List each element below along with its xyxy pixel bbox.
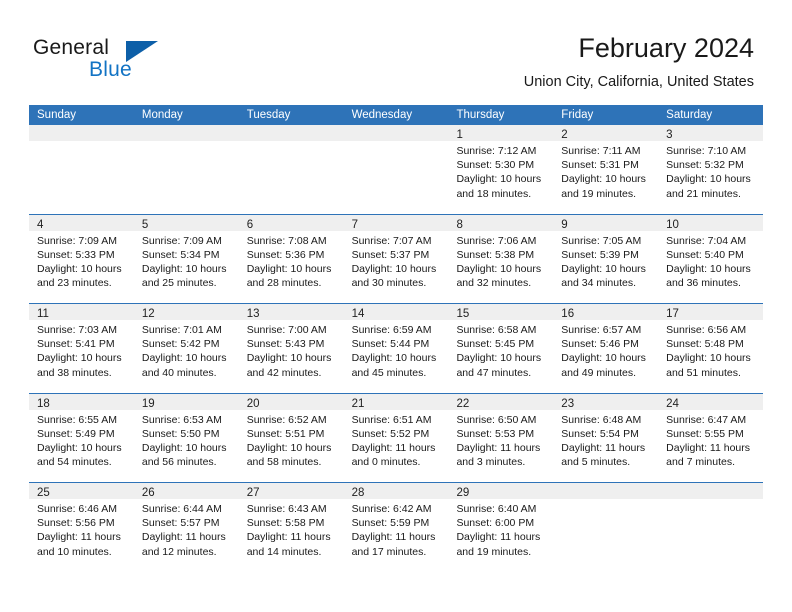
sunset-text: Sunset: 6:00 PM bbox=[456, 516, 547, 530]
day-details: Sunrise: 7:10 AMSunset: 5:32 PMDaylight:… bbox=[658, 141, 763, 201]
sunrise-text: Sunrise: 7:04 AM bbox=[666, 234, 757, 248]
day-number-band: 25 bbox=[29, 483, 134, 499]
sunset-text: Sunset: 5:38 PM bbox=[456, 248, 547, 262]
day-number: 22 bbox=[456, 398, 469, 410]
sunset-text: Sunset: 5:58 PM bbox=[247, 516, 338, 530]
day-number-band: 6 bbox=[239, 215, 344, 231]
day-number: 18 bbox=[37, 398, 50, 410]
day-number: 24 bbox=[666, 398, 679, 410]
day-details: Sunrise: 6:56 AMSunset: 5:48 PMDaylight:… bbox=[658, 320, 763, 380]
day-cell-3[interactable]: 3Sunrise: 7:10 AMSunset: 5:32 PMDaylight… bbox=[658, 125, 763, 214]
day-number-band bbox=[29, 125, 134, 141]
weekday-header-friday: Friday bbox=[553, 105, 658, 125]
daylight-text-line1: Daylight: 11 hours bbox=[37, 530, 128, 544]
sunset-text: Sunset: 5:31 PM bbox=[561, 158, 652, 172]
day-number-band: 12 bbox=[134, 304, 239, 320]
location-subtitle: Union City, California, United States bbox=[524, 73, 754, 91]
sunrise-text: Sunrise: 6:59 AM bbox=[352, 323, 443, 337]
day-number: 23 bbox=[561, 398, 574, 410]
daylight-text-line2: and 18 minutes. bbox=[456, 187, 547, 201]
day-cell-empty bbox=[553, 483, 658, 573]
day-number-band: 2 bbox=[553, 125, 658, 141]
day-number-band: 3 bbox=[658, 125, 763, 141]
title-block: February 2024 Union City, California, Un… bbox=[524, 32, 754, 91]
sunset-text: Sunset: 5:40 PM bbox=[666, 248, 757, 262]
calendar-grid: SundayMondayTuesdayWednesdayThursdayFrid… bbox=[29, 105, 763, 573]
sunset-text: Sunset: 5:48 PM bbox=[666, 337, 757, 351]
day-details: Sunrise: 6:48 AMSunset: 5:54 PMDaylight:… bbox=[553, 410, 658, 470]
day-details: Sunrise: 7:03 AMSunset: 5:41 PMDaylight:… bbox=[29, 320, 134, 380]
calendar-week-row: 18Sunrise: 6:55 AMSunset: 5:49 PMDayligh… bbox=[29, 394, 763, 484]
day-number: 2 bbox=[561, 129, 567, 141]
weekday-header-row: SundayMondayTuesdayWednesdayThursdayFrid… bbox=[29, 105, 763, 125]
day-number-band: 27 bbox=[239, 483, 344, 499]
day-cell-2[interactable]: 2Sunrise: 7:11 AMSunset: 5:31 PMDaylight… bbox=[553, 125, 658, 214]
sunset-text: Sunset: 5:42 PM bbox=[142, 337, 233, 351]
sunset-text: Sunset: 5:32 PM bbox=[666, 158, 757, 172]
day-details: Sunrise: 7:11 AMSunset: 5:31 PMDaylight:… bbox=[553, 141, 658, 201]
daylight-text-line2: and 42 minutes. bbox=[247, 366, 338, 380]
day-number: 28 bbox=[352, 487, 365, 499]
weekday-header-sunday: Sunday bbox=[29, 105, 134, 125]
calendar-body: 1Sunrise: 7:12 AMSunset: 5:30 PMDaylight… bbox=[29, 125, 763, 573]
sunset-text: Sunset: 5:49 PM bbox=[37, 427, 128, 441]
sunrise-text: Sunrise: 6:53 AM bbox=[142, 413, 233, 427]
daylight-text-line2: and 38 minutes. bbox=[37, 366, 128, 380]
day-cell-26[interactable]: 26Sunrise: 6:44 AMSunset: 5:57 PMDayligh… bbox=[134, 483, 239, 573]
day-cell-22[interactable]: 22Sunrise: 6:50 AMSunset: 5:53 PMDayligh… bbox=[448, 394, 553, 483]
sunrise-text: Sunrise: 6:56 AM bbox=[666, 323, 757, 337]
day-number-band: 20 bbox=[239, 394, 344, 410]
sunset-text: Sunset: 5:56 PM bbox=[37, 516, 128, 530]
day-details: Sunrise: 6:59 AMSunset: 5:44 PMDaylight:… bbox=[344, 320, 449, 380]
daylight-text-line1: Daylight: 10 hours bbox=[142, 441, 233, 455]
sunrise-text: Sunrise: 7:10 AM bbox=[666, 144, 757, 158]
weekday-header-wednesday: Wednesday bbox=[344, 105, 449, 125]
sunset-text: Sunset: 5:44 PM bbox=[352, 337, 443, 351]
sunset-text: Sunset: 5:51 PM bbox=[247, 427, 338, 441]
day-cell-19[interactable]: 19Sunrise: 6:53 AMSunset: 5:50 PMDayligh… bbox=[134, 394, 239, 483]
sunset-text: Sunset: 5:50 PM bbox=[142, 427, 233, 441]
sunrise-text: Sunrise: 7:08 AM bbox=[247, 234, 338, 248]
sunset-text: Sunset: 5:55 PM bbox=[666, 427, 757, 441]
daylight-text-line2: and 30 minutes. bbox=[352, 276, 443, 290]
sunrise-text: Sunrise: 6:42 AM bbox=[352, 502, 443, 516]
daylight-text-line1: Daylight: 11 hours bbox=[561, 441, 652, 455]
sunset-text: Sunset: 5:39 PM bbox=[561, 248, 652, 262]
day-number-band: 19 bbox=[134, 394, 239, 410]
sunrise-text: Sunrise: 6:47 AM bbox=[666, 413, 757, 427]
sunrise-text: Sunrise: 6:50 AM bbox=[456, 413, 547, 427]
sunrise-text: Sunrise: 6:51 AM bbox=[352, 413, 443, 427]
day-number: 5 bbox=[142, 219, 148, 231]
sunrise-text: Sunrise: 6:40 AM bbox=[456, 502, 547, 516]
day-cell-12[interactable]: 12Sunrise: 7:01 AMSunset: 5:42 PMDayligh… bbox=[134, 304, 239, 393]
daylight-text-line1: Daylight: 10 hours bbox=[142, 351, 233, 365]
day-number: 14 bbox=[352, 308, 365, 320]
sunrise-text: Sunrise: 7:01 AM bbox=[142, 323, 233, 337]
day-number: 27 bbox=[247, 487, 260, 499]
sunrise-text: Sunrise: 6:48 AM bbox=[561, 413, 652, 427]
daylight-text-line2: and 51 minutes. bbox=[666, 366, 757, 380]
sunset-text: Sunset: 5:33 PM bbox=[37, 248, 128, 262]
daylight-text-line1: Daylight: 11 hours bbox=[142, 530, 233, 544]
day-cell-8[interactable]: 8Sunrise: 7:06 AMSunset: 5:38 PMDaylight… bbox=[448, 215, 553, 304]
sunrise-text: Sunrise: 6:57 AM bbox=[561, 323, 652, 337]
day-number-band: 17 bbox=[658, 304, 763, 320]
day-number-band: 1 bbox=[448, 125, 553, 141]
sunrise-text: Sunrise: 7:05 AM bbox=[561, 234, 652, 248]
day-number-band: 5 bbox=[134, 215, 239, 231]
day-number-band: 29 bbox=[448, 483, 553, 499]
daylight-text-line1: Daylight: 10 hours bbox=[37, 351, 128, 365]
sunset-text: Sunset: 5:36 PM bbox=[247, 248, 338, 262]
day-cell-25[interactable]: 25Sunrise: 6:46 AMSunset: 5:56 PMDayligh… bbox=[29, 483, 134, 573]
daylight-text-line1: Daylight: 10 hours bbox=[352, 262, 443, 276]
day-cell-29[interactable]: 29Sunrise: 6:40 AMSunset: 6:00 PMDayligh… bbox=[448, 483, 553, 573]
day-details: Sunrise: 6:43 AMSunset: 5:58 PMDaylight:… bbox=[239, 499, 344, 559]
day-cell-24[interactable]: 24Sunrise: 6:47 AMSunset: 5:55 PMDayligh… bbox=[658, 394, 763, 483]
daylight-text-line1: Daylight: 10 hours bbox=[561, 351, 652, 365]
day-number: 4 bbox=[37, 219, 43, 231]
daylight-text-line2: and 56 minutes. bbox=[142, 455, 233, 469]
daylight-text-line1: Daylight: 10 hours bbox=[561, 262, 652, 276]
daylight-text-line2: and 12 minutes. bbox=[142, 545, 233, 559]
day-number-band: 8 bbox=[448, 215, 553, 231]
day-details: Sunrise: 6:47 AMSunset: 5:55 PMDaylight:… bbox=[658, 410, 763, 470]
day-number: 15 bbox=[456, 308, 469, 320]
sunset-text: Sunset: 5:46 PM bbox=[561, 337, 652, 351]
daylight-text-line1: Daylight: 11 hours bbox=[666, 441, 757, 455]
day-details: Sunrise: 7:08 AMSunset: 5:36 PMDaylight:… bbox=[239, 231, 344, 291]
daylight-text-line1: Daylight: 10 hours bbox=[561, 172, 652, 186]
day-cell-empty bbox=[344, 125, 449, 214]
daylight-text-line2: and 34 minutes. bbox=[561, 276, 652, 290]
sunrise-text: Sunrise: 6:52 AM bbox=[247, 413, 338, 427]
sunrise-text: Sunrise: 6:43 AM bbox=[247, 502, 338, 516]
day-number-band bbox=[553, 483, 658, 499]
sunset-text: Sunset: 5:54 PM bbox=[561, 427, 652, 441]
day-details: Sunrise: 7:01 AMSunset: 5:42 PMDaylight:… bbox=[134, 320, 239, 380]
day-details: Sunrise: 6:55 AMSunset: 5:49 PMDaylight:… bbox=[29, 410, 134, 470]
daylight-text-line2: and 36 minutes. bbox=[666, 276, 757, 290]
weekday-header-tuesday: Tuesday bbox=[239, 105, 344, 125]
daylight-text-line1: Daylight: 10 hours bbox=[37, 262, 128, 276]
day-cell-1[interactable]: 1Sunrise: 7:12 AMSunset: 5:30 PMDaylight… bbox=[448, 125, 553, 214]
sunrise-text: Sunrise: 7:06 AM bbox=[456, 234, 547, 248]
daylight-text-line2: and 32 minutes. bbox=[456, 276, 547, 290]
day-cell-28[interactable]: 28Sunrise: 6:42 AMSunset: 5:59 PMDayligh… bbox=[344, 483, 449, 573]
day-details: Sunrise: 7:09 AMSunset: 5:34 PMDaylight:… bbox=[134, 231, 239, 291]
sunrise-text: Sunrise: 6:55 AM bbox=[37, 413, 128, 427]
day-details: Sunrise: 7:07 AMSunset: 5:37 PMDaylight:… bbox=[344, 231, 449, 291]
day-number-band bbox=[134, 125, 239, 141]
day-details: Sunrise: 7:04 AMSunset: 5:40 PMDaylight:… bbox=[658, 231, 763, 291]
calendar-week-row: 25Sunrise: 6:46 AMSunset: 5:56 PMDayligh… bbox=[29, 483, 763, 573]
daylight-text-line2: and 49 minutes. bbox=[561, 366, 652, 380]
daylight-text-line1: Daylight: 10 hours bbox=[247, 441, 338, 455]
sunrise-text: Sunrise: 6:58 AM bbox=[456, 323, 547, 337]
day-details: Sunrise: 7:05 AMSunset: 5:39 PMDaylight:… bbox=[553, 231, 658, 291]
daylight-text-line1: Daylight: 10 hours bbox=[456, 351, 547, 365]
calendar-week-row: 1Sunrise: 7:12 AMSunset: 5:30 PMDaylight… bbox=[29, 125, 763, 215]
day-cell-empty bbox=[658, 483, 763, 573]
day-cell-18[interactable]: 18Sunrise: 6:55 AMSunset: 5:49 PMDayligh… bbox=[29, 394, 134, 483]
day-number: 26 bbox=[142, 487, 155, 499]
daylight-text-line2: and 3 minutes. bbox=[456, 455, 547, 469]
day-cell-9[interactable]: 9Sunrise: 7:05 AMSunset: 5:39 PMDaylight… bbox=[553, 215, 658, 304]
day-number-band: 14 bbox=[344, 304, 449, 320]
daylight-text-line2: and 40 minutes. bbox=[142, 366, 233, 380]
day-details: Sunrise: 6:50 AMSunset: 5:53 PMDaylight:… bbox=[448, 410, 553, 470]
sunrise-text: Sunrise: 7:11 AM bbox=[561, 144, 652, 158]
day-cell-16[interactable]: 16Sunrise: 6:57 AMSunset: 5:46 PMDayligh… bbox=[553, 304, 658, 393]
day-number: 12 bbox=[142, 308, 155, 320]
day-number-band bbox=[658, 483, 763, 499]
day-details: Sunrise: 6:46 AMSunset: 5:56 PMDaylight:… bbox=[29, 499, 134, 559]
daylight-text-line2: and 21 minutes. bbox=[666, 187, 757, 201]
daylight-text-line1: Daylight: 10 hours bbox=[666, 172, 757, 186]
day-number: 21 bbox=[352, 398, 365, 410]
day-number-band: 26 bbox=[134, 483, 239, 499]
day-details: Sunrise: 6:40 AMSunset: 6:00 PMDaylight:… bbox=[448, 499, 553, 559]
brand-name-general: General bbox=[33, 36, 109, 60]
daylight-text-line1: Daylight: 10 hours bbox=[456, 172, 547, 186]
day-details: Sunrise: 6:44 AMSunset: 5:57 PMDaylight:… bbox=[134, 499, 239, 559]
day-number-band: 7 bbox=[344, 215, 449, 231]
day-number: 20 bbox=[247, 398, 260, 410]
sunset-text: Sunset: 5:41 PM bbox=[37, 337, 128, 351]
day-cell-15[interactable]: 15Sunrise: 6:58 AMSunset: 5:45 PMDayligh… bbox=[448, 304, 553, 393]
day-cell-empty bbox=[29, 125, 134, 214]
day-number-band: 10 bbox=[658, 215, 763, 231]
day-cell-11[interactable]: 11Sunrise: 7:03 AMSunset: 5:41 PMDayligh… bbox=[29, 304, 134, 393]
day-cell-20[interactable]: 20Sunrise: 6:52 AMSunset: 5:51 PMDayligh… bbox=[239, 394, 344, 483]
sunset-text: Sunset: 5:45 PM bbox=[456, 337, 547, 351]
day-details: Sunrise: 7:06 AMSunset: 5:38 PMDaylight:… bbox=[448, 231, 553, 291]
day-details: Sunrise: 6:42 AMSunset: 5:59 PMDaylight:… bbox=[344, 499, 449, 559]
day-number: 29 bbox=[456, 487, 469, 499]
sunset-text: Sunset: 5:53 PM bbox=[456, 427, 547, 441]
day-number-band: 4 bbox=[29, 215, 134, 231]
day-cell-13[interactable]: 13Sunrise: 7:00 AMSunset: 5:43 PMDayligh… bbox=[239, 304, 344, 393]
day-cell-empty bbox=[239, 125, 344, 214]
daylight-text-line2: and 28 minutes. bbox=[247, 276, 338, 290]
day-details: Sunrise: 6:58 AMSunset: 5:45 PMDaylight:… bbox=[448, 320, 553, 380]
sunset-text: Sunset: 5:37 PM bbox=[352, 248, 443, 262]
daylight-text-line2: and 25 minutes. bbox=[142, 276, 233, 290]
day-number-band: 24 bbox=[658, 394, 763, 410]
day-details: Sunrise: 7:09 AMSunset: 5:33 PMDaylight:… bbox=[29, 231, 134, 291]
day-number: 6 bbox=[247, 219, 253, 231]
day-number: 8 bbox=[456, 219, 462, 231]
daylight-text-line2: and 19 minutes. bbox=[456, 545, 547, 559]
daylight-text-line2: and 54 minutes. bbox=[37, 455, 128, 469]
day-number: 3 bbox=[666, 129, 672, 141]
daylight-text-line2: and 58 minutes. bbox=[247, 455, 338, 469]
day-number: 11 bbox=[37, 308, 49, 320]
day-number: 19 bbox=[142, 398, 155, 410]
daylight-text-line1: Daylight: 11 hours bbox=[352, 441, 443, 455]
sunrise-text: Sunrise: 7:09 AM bbox=[37, 234, 128, 248]
day-number-band: 21 bbox=[344, 394, 449, 410]
sunset-text: Sunset: 5:43 PM bbox=[247, 337, 338, 351]
daylight-text-line2: and 5 minutes. bbox=[561, 455, 652, 469]
day-cell-6[interactable]: 6Sunrise: 7:08 AMSunset: 5:36 PMDaylight… bbox=[239, 215, 344, 304]
day-number-band bbox=[239, 125, 344, 141]
day-details: Sunrise: 7:00 AMSunset: 5:43 PMDaylight:… bbox=[239, 320, 344, 380]
daylight-text-line1: Daylight: 10 hours bbox=[456, 262, 547, 276]
day-number: 1 bbox=[456, 129, 462, 141]
day-cell-5[interactable]: 5Sunrise: 7:09 AMSunset: 5:34 PMDaylight… bbox=[134, 215, 239, 304]
day-cell-17[interactable]: 17Sunrise: 6:56 AMSunset: 5:48 PMDayligh… bbox=[658, 304, 763, 393]
daylight-text-line2: and 19 minutes. bbox=[561, 187, 652, 201]
daylight-text-line2: and 17 minutes. bbox=[352, 545, 443, 559]
daylight-text-line1: Daylight: 11 hours bbox=[456, 530, 547, 544]
sunset-text: Sunset: 5:30 PM bbox=[456, 158, 547, 172]
sunset-text: Sunset: 5:57 PM bbox=[142, 516, 233, 530]
day-number-band: 13 bbox=[239, 304, 344, 320]
weekday-header-saturday: Saturday bbox=[658, 105, 763, 125]
daylight-text-line2: and 47 minutes. bbox=[456, 366, 547, 380]
calendar-page: General Blue February 2024 Union City, C… bbox=[0, 0, 792, 612]
daylight-text-line2: and 23 minutes. bbox=[37, 276, 128, 290]
day-number-band: 9 bbox=[553, 215, 658, 231]
day-cell-10[interactable]: 10Sunrise: 7:04 AMSunset: 5:40 PMDayligh… bbox=[658, 215, 763, 304]
day-number: 9 bbox=[561, 219, 567, 231]
daylight-text-line1: Daylight: 10 hours bbox=[142, 262, 233, 276]
day-number-band: 15 bbox=[448, 304, 553, 320]
daylight-text-line1: Daylight: 10 hours bbox=[37, 441, 128, 455]
sunset-text: Sunset: 5:34 PM bbox=[142, 248, 233, 262]
daylight-text-line2: and 14 minutes. bbox=[247, 545, 338, 559]
day-number-band bbox=[344, 125, 449, 141]
day-cell-empty bbox=[134, 125, 239, 214]
day-number: 7 bbox=[352, 219, 358, 231]
day-cell-23[interactable]: 23Sunrise: 6:48 AMSunset: 5:54 PMDayligh… bbox=[553, 394, 658, 483]
day-details: Sunrise: 6:53 AMSunset: 5:50 PMDaylight:… bbox=[134, 410, 239, 470]
sunrise-text: Sunrise: 7:03 AM bbox=[37, 323, 128, 337]
day-number: 10 bbox=[666, 219, 679, 231]
daylight-text-line2: and 7 minutes. bbox=[666, 455, 757, 469]
day-number-band: 28 bbox=[344, 483, 449, 499]
daylight-text-line1: Daylight: 10 hours bbox=[247, 262, 338, 276]
day-cell-14[interactable]: 14Sunrise: 6:59 AMSunset: 5:44 PMDayligh… bbox=[344, 304, 449, 393]
weekday-header-monday: Monday bbox=[134, 105, 239, 125]
day-number-band: 16 bbox=[553, 304, 658, 320]
daylight-text-line2: and 0 minutes. bbox=[352, 455, 443, 469]
day-cell-27[interactable]: 27Sunrise: 6:43 AMSunset: 5:58 PMDayligh… bbox=[239, 483, 344, 573]
daylight-text-line1: Daylight: 10 hours bbox=[352, 351, 443, 365]
daylight-text-line2: and 45 minutes. bbox=[352, 366, 443, 380]
sunset-text: Sunset: 5:59 PM bbox=[352, 516, 443, 530]
day-cell-7[interactable]: 7Sunrise: 7:07 AMSunset: 5:37 PMDaylight… bbox=[344, 215, 449, 304]
daylight-text-line1: Daylight: 11 hours bbox=[352, 530, 443, 544]
day-number: 25 bbox=[37, 487, 50, 499]
daylight-text-line2: and 10 minutes. bbox=[37, 545, 128, 559]
sunrise-text: Sunrise: 7:00 AM bbox=[247, 323, 338, 337]
brand-name-blue: Blue bbox=[89, 58, 132, 82]
daylight-text-line1: Daylight: 11 hours bbox=[456, 441, 547, 455]
page-title: February 2024 bbox=[524, 32, 754, 64]
calendar-week-row: 11Sunrise: 7:03 AMSunset: 5:41 PMDayligh… bbox=[29, 304, 763, 394]
day-number-band: 18 bbox=[29, 394, 134, 410]
sunrise-text: Sunrise: 7:12 AM bbox=[456, 144, 547, 158]
daylight-text-line1: Daylight: 10 hours bbox=[247, 351, 338, 365]
day-number: 16 bbox=[561, 308, 574, 320]
brand-logo[interactable]: General Blue bbox=[33, 36, 213, 86]
day-number-band: 22 bbox=[448, 394, 553, 410]
day-cell-4[interactable]: 4Sunrise: 7:09 AMSunset: 5:33 PMDaylight… bbox=[29, 215, 134, 304]
day-number: 17 bbox=[666, 308, 679, 320]
sunrise-text: Sunrise: 6:44 AM bbox=[142, 502, 233, 516]
day-details: Sunrise: 6:51 AMSunset: 5:52 PMDaylight:… bbox=[344, 410, 449, 470]
sunset-text: Sunset: 5:52 PM bbox=[352, 427, 443, 441]
day-cell-21[interactable]: 21Sunrise: 6:51 AMSunset: 5:52 PMDayligh… bbox=[344, 394, 449, 483]
weekday-header-thursday: Thursday bbox=[448, 105, 553, 125]
sunrise-text: Sunrise: 7:07 AM bbox=[352, 234, 443, 248]
daylight-text-line1: Daylight: 10 hours bbox=[666, 262, 757, 276]
day-number: 13 bbox=[247, 308, 260, 320]
day-number-band: 23 bbox=[553, 394, 658, 410]
page-header: General Blue February 2024 Union City, C… bbox=[0, 0, 792, 100]
day-number-band: 11 bbox=[29, 304, 134, 320]
daylight-text-line1: Daylight: 10 hours bbox=[666, 351, 757, 365]
day-details: Sunrise: 6:52 AMSunset: 5:51 PMDaylight:… bbox=[239, 410, 344, 470]
calendar-week-row: 4Sunrise: 7:09 AMSunset: 5:33 PMDaylight… bbox=[29, 215, 763, 305]
sunrise-text: Sunrise: 7:09 AM bbox=[142, 234, 233, 248]
day-details: Sunrise: 7:12 AMSunset: 5:30 PMDaylight:… bbox=[448, 141, 553, 201]
daylight-text-line1: Daylight: 11 hours bbox=[247, 530, 338, 544]
day-details: Sunrise: 6:57 AMSunset: 5:46 PMDaylight:… bbox=[553, 320, 658, 380]
sunrise-text: Sunrise: 6:46 AM bbox=[37, 502, 128, 516]
